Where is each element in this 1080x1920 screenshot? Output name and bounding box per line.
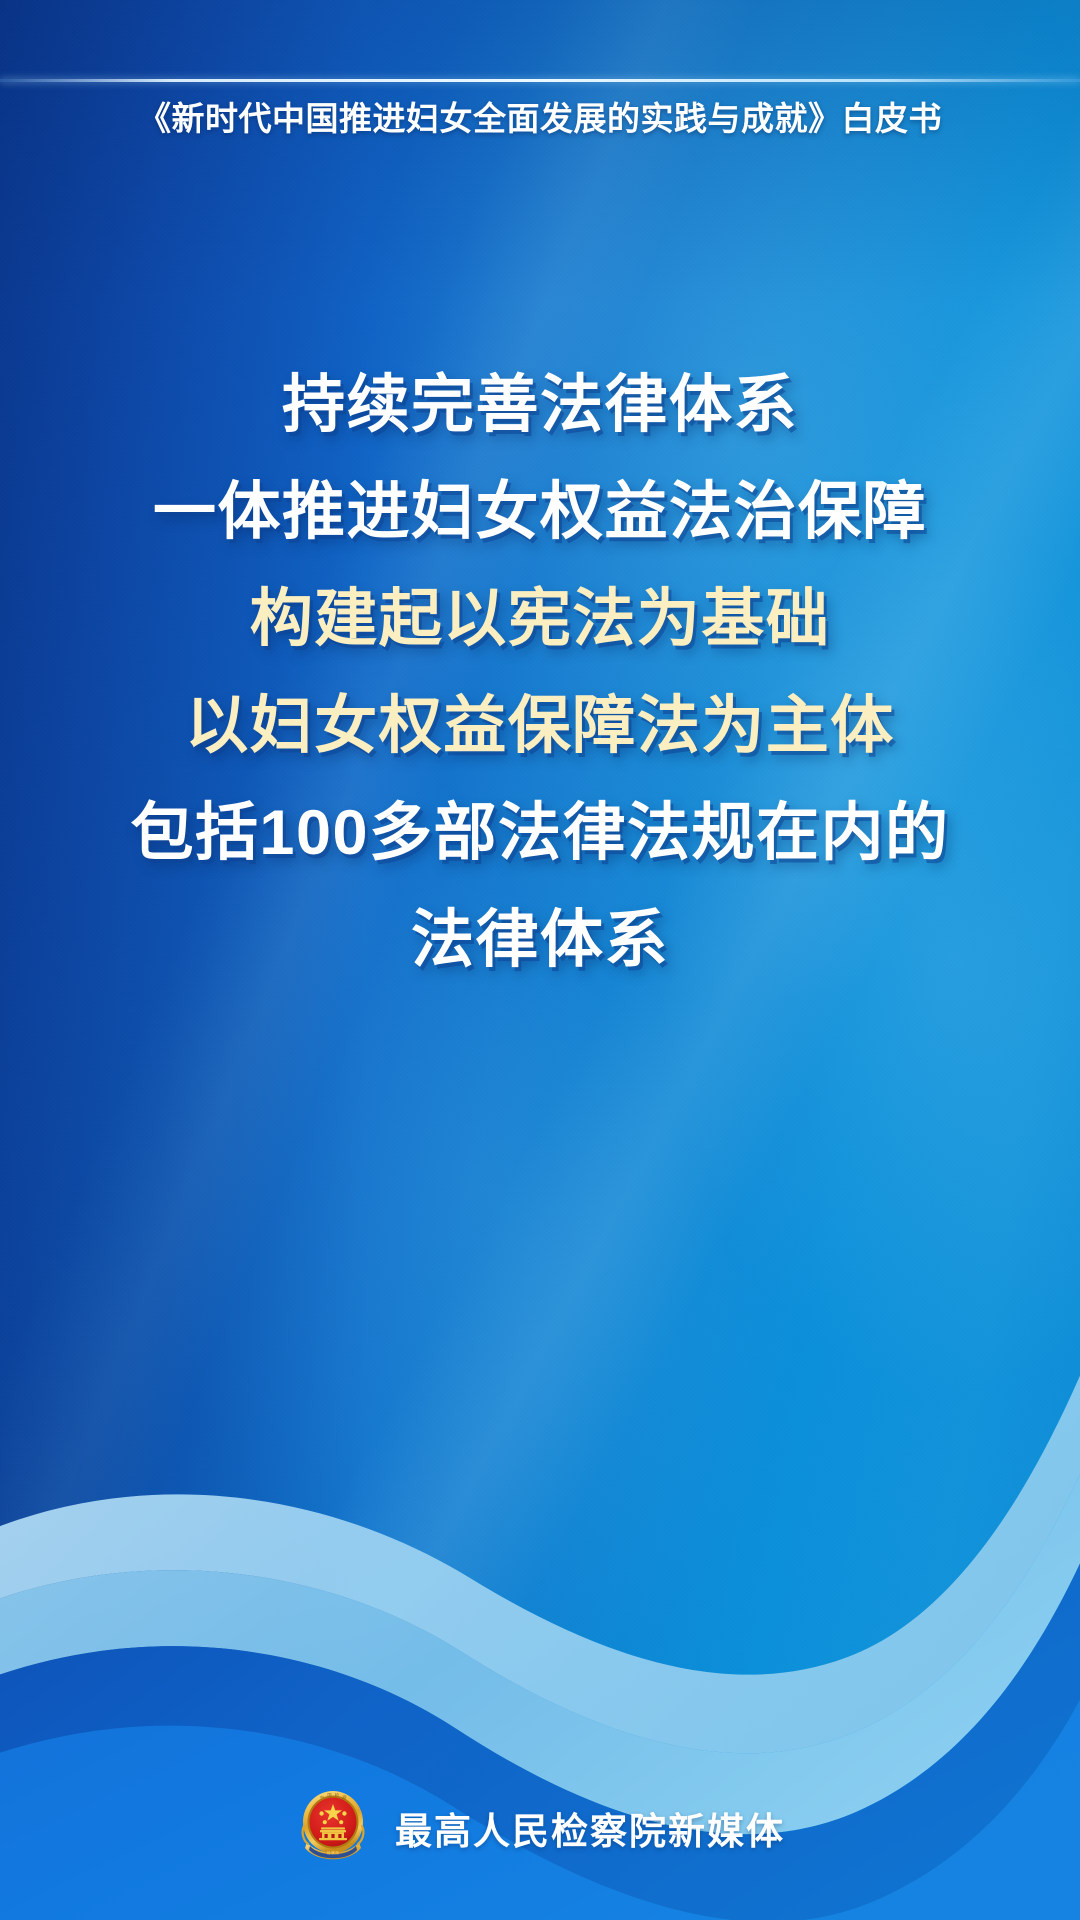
supreme-peoples-procuratorate-emblem-icon: 中 国 检 察 检 察 院 xyxy=(295,1786,371,1870)
headline-line-2: 一体推进妇女权益法治保障 xyxy=(153,459,927,566)
headline-line-3: 构建起以宪法为基础 xyxy=(250,566,831,673)
svg-text:检 察 院: 检 察 院 xyxy=(327,1850,339,1855)
headline-block: 持续完善法律体系 一体推进妇女权益法治保障 构建起以宪法为基础 以妇女权益保障法… xyxy=(0,352,1080,994)
header-divider-line xyxy=(0,79,1080,82)
masthead-title: 《新时代中国推进妇女全面发展的实践与成就》白皮书 xyxy=(138,92,942,140)
headline-line-5: 包括100多部法律法规在内的 xyxy=(130,780,949,887)
footer-organization-label: 最高人民检察院新媒体 xyxy=(395,1801,785,1855)
svg-text:中: 中 xyxy=(320,1794,324,1801)
masthead: 《新时代中国推进妇女全面发展的实践与成就》白皮书 xyxy=(0,86,1080,146)
headline-line-6: 法律体系 xyxy=(411,887,669,994)
footer: 中 国 检 察 检 察 院 最高人民检察院新媒体 xyxy=(0,1778,1080,1878)
headline-line-4: 以妇女权益保障法为主体 xyxy=(185,673,895,780)
headline-line-1: 持续完善法律体系 xyxy=(282,352,798,459)
poster-root: 《新时代中国推进妇女全面发展的实践与成就》白皮书 持续完善法律体系 一体推进妇女… xyxy=(0,0,1080,1920)
